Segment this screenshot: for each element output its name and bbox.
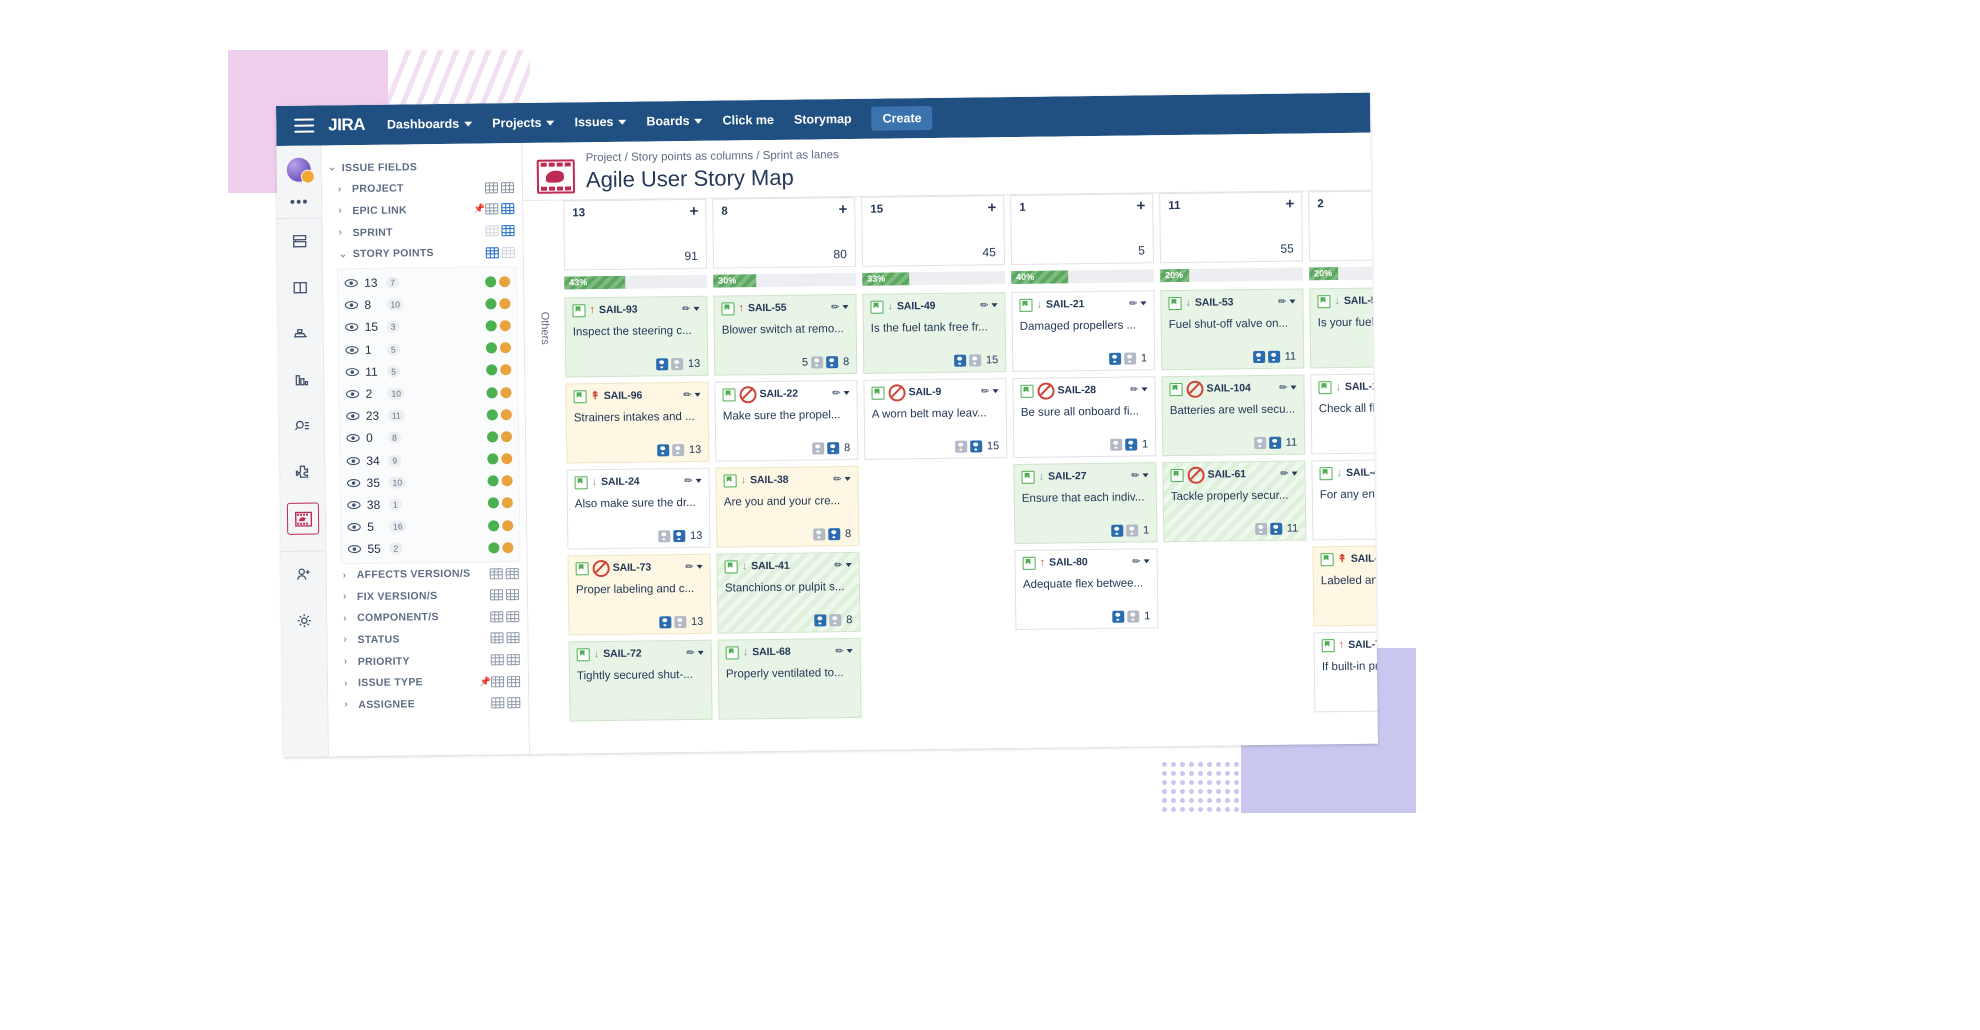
- issue-type-story-icon: [1317, 295, 1330, 308]
- issue-key[interactable]: SAIL-55: [748, 302, 787, 314]
- chevron-down-icon[interactable]: [842, 305, 848, 309]
- decor-dot-grid: [1162, 762, 1292, 814]
- chevron-down-icon[interactable]: [1144, 559, 1150, 563]
- assignee-avatar[interactable]: [1124, 353, 1136, 365]
- chevron-right-icon[interactable]: ›: [338, 206, 352, 217]
- card-header: ↑SAIL-93✏: [572, 302, 699, 318]
- card-actions: ✏: [686, 647, 704, 658]
- column-header: 1+540%: [1010, 193, 1154, 284]
- card-footer: 11: [1254, 437, 1298, 450]
- card-header: SAIL-73✏: [576, 560, 703, 576]
- grid-layout-icon[interactable]: [490, 633, 503, 644]
- status-dots: [487, 453, 512, 464]
- chevron-down-icon[interactable]: [844, 391, 850, 395]
- eye-icon[interactable]: [346, 433, 360, 443]
- edit-pencil-icon[interactable]: ✏: [1131, 470, 1140, 481]
- add-user-icon[interactable]: [289, 560, 319, 590]
- assignee-avatar[interactable]: [1253, 351, 1265, 363]
- issue-summary: Adequate flex betwee...: [1023, 576, 1150, 592]
- field-row-sprint[interactable]: ›Sprint: [322, 220, 522, 244]
- edit-pencil-icon[interactable]: ✏: [831, 302, 840, 313]
- issue-key[interactable]: SAIL-93: [599, 304, 638, 316]
- more-options-icon[interactable]: •••: [290, 200, 309, 206]
- eye-icon[interactable]: [347, 522, 361, 532]
- add-issue-button[interactable]: +: [987, 200, 996, 215]
- column-summary-box: 15+45: [861, 195, 1005, 267]
- chevron-down-icon[interactable]: [847, 649, 853, 653]
- issue-card[interactable]: ↑SAIL-70✏If built-in prope...: [1314, 631, 1378, 713]
- story-points-row[interactable]: 137: [338, 270, 516, 294]
- column-issue-count: 13: [572, 207, 585, 219]
- field-row-story-points[interactable]: ⌄Story Points: [323, 241, 523, 265]
- divider: [281, 550, 325, 552]
- card-actions: ✏: [832, 388, 850, 399]
- field-label: Fix Version/s: [357, 589, 490, 603]
- chevron-down-icon[interactable]: [697, 565, 703, 569]
- edit-pencil-icon[interactable]: ✏: [834, 560, 843, 571]
- chevron-down-icon[interactable]: [845, 477, 851, 481]
- card-story-points: 11: [1287, 523, 1299, 535]
- field-label: Assignee: [358, 697, 491, 711]
- issue-key[interactable]: SAIL-38: [750, 474, 789, 486]
- eye-icon[interactable]: [346, 411, 360, 421]
- story-points-value: 34: [366, 453, 383, 467]
- chevron-down-icon[interactable]: [1143, 473, 1149, 477]
- assignee-avatar[interactable]: [1254, 437, 1266, 449]
- chevron-right-icon[interactable]: ›: [338, 227, 352, 238]
- issue-key[interactable]: SAIL-56: [1344, 294, 1378, 306]
- card-footer: 13: [659, 616, 703, 629]
- grid-layout-icon[interactable]: [485, 182, 498, 193]
- chevron-down-icon[interactable]: [1290, 386, 1296, 390]
- assignee-avatar[interactable]: [827, 442, 839, 454]
- story-points-row[interactable]: 516: [341, 514, 519, 538]
- story-points-row[interactable]: 552: [341, 536, 519, 560]
- chevron-right-icon[interactable]: ›: [343, 570, 357, 581]
- assignee-avatar[interactable]: [826, 356, 838, 368]
- field-row-project[interactable]: ›Project: [322, 177, 522, 201]
- story-points-count-badge: 1: [389, 498, 402, 510]
- card-column: ↓SAIL-21✏Damaged propellers ...1SAIL-28✏…: [1011, 290, 1159, 722]
- chevron-down-icon[interactable]: [993, 389, 999, 393]
- column-progress-bar: 33%: [862, 271, 1005, 286]
- chevron-down-icon[interactable]: [1289, 300, 1295, 304]
- field-view-toggles: [490, 589, 519, 600]
- nav-item-boards[interactable]: Boards: [646, 114, 702, 129]
- column-progress-label: 40%: [1016, 272, 1034, 282]
- issue-card[interactable]: SAIL-104✏Batteries are well secu...11: [1161, 374, 1305, 456]
- field-label: Story Points: [353, 247, 486, 261]
- issue-key[interactable]: SAIL-73: [613, 561, 652, 573]
- issue-card[interactable]: SAIL-73✏Proper labeling and c...13: [568, 554, 712, 636]
- project-avatar-icon: [537, 159, 575, 193]
- issue-card[interactable]: SAIL-9✏A worn belt may leav...15: [863, 378, 1007, 460]
- story-points-value: 11: [365, 365, 382, 379]
- issue-key[interactable]: SAIL-28: [1057, 384, 1096, 396]
- chevron-down-icon: [464, 121, 472, 126]
- edit-pencil-icon[interactable]: ✏: [1129, 298, 1138, 309]
- grid-layout-icon[interactable]: [507, 697, 520, 708]
- columns-icon[interactable]: [285, 273, 315, 303]
- issue-key[interactable]: SAIL-24: [601, 476, 640, 488]
- field-view-toggles: [490, 633, 519, 644]
- card-footer: 11: [1253, 351, 1297, 364]
- grid-layout-icon[interactable]: [507, 654, 520, 665]
- eye-icon[interactable]: [347, 544, 361, 554]
- issue-card[interactable]: ↓SAIL-41✏Stanchions or pulpit s...8: [717, 552, 861, 634]
- grid-layout-icon[interactable]: [506, 633, 519, 644]
- grid-layout-icon[interactable]: [506, 589, 519, 600]
- puzzle-icon[interactable]: [287, 457, 317, 487]
- storymap-icon[interactable]: [287, 503, 319, 535]
- priority-dn-icon: ↓: [1036, 299, 1042, 310]
- issue-key[interactable]: SAIL-68: [752, 646, 791, 658]
- column-progress-label: 20%: [1314, 268, 1332, 278]
- edit-pencil-icon[interactable]: ✏: [980, 300, 989, 311]
- issue-card[interactable]: ↑SAIL-80✏Adequate flex betwee...1: [1014, 548, 1158, 630]
- issue-summary: Properly ventilated to...: [726, 666, 853, 682]
- gear-icon[interactable]: [289, 606, 319, 636]
- card-header: ↓SAIL-24✏: [575, 474, 702, 490]
- assignee-avatar[interactable]: [659, 616, 671, 628]
- card-actions: ✏: [980, 300, 998, 311]
- nav-item-click-me[interactable]: Click me: [722, 113, 774, 128]
- create-button[interactable]: Create: [871, 106, 932, 131]
- chevron-down-icon[interactable]: [846, 563, 852, 567]
- field-label: Sprint: [352, 225, 485, 239]
- issue-card[interactable]: ↓SAIL-53✏Fuel shut-off valve on...11: [1160, 288, 1304, 370]
- grid-layout-icon[interactable]: [501, 204, 514, 215]
- column-progress-bar: 20%: [1160, 267, 1303, 282]
- edit-pencil-icon[interactable]: ✏: [685, 561, 694, 572]
- grid-layout-icon[interactable]: [485, 204, 498, 215]
- grid-layout-icon[interactable]: [491, 698, 504, 709]
- issue-card[interactable]: ↟SAIL-96✏Strainers intakes and ...13: [565, 382, 709, 464]
- chevron-down-icon[interactable]: ⌄: [339, 249, 353, 260]
- nav-item-label: Issues: [574, 115, 613, 129]
- issue-card[interactable]: ↓SAIL-17✏Check all fluid le...: [1310, 373, 1378, 455]
- assignee-avatar[interactable]: [1270, 523, 1282, 535]
- field-row-issue-fields[interactable]: ⌄Issue Fields: [322, 155, 522, 179]
- grid-layout-icon[interactable]: [501, 225, 514, 236]
- assignee-avatar[interactable]: [1111, 525, 1123, 537]
- grid-layout-icon[interactable]: [491, 676, 504, 687]
- story-points-row[interactable]: 381: [341, 492, 519, 516]
- jira-logo[interactable]: JIRA: [328, 115, 365, 135]
- assignee-avatar[interactable]: [1255, 523, 1267, 535]
- grid-layout-icon[interactable]: [506, 611, 519, 622]
- card-column: ↓SAIL-56✏Is your fuel syst...↓SAIL-17✏Ch…: [1309, 287, 1378, 719]
- assignee-avatar[interactable]: [970, 440, 982, 452]
- chevron-down-icon[interactable]: [1292, 472, 1298, 476]
- assignee-avatar[interactable]: [954, 355, 966, 367]
- assignee-avatar[interactable]: [1112, 611, 1124, 623]
- issue-type-story-icon: [725, 560, 738, 573]
- status-dots: [488, 475, 513, 486]
- chevron-down-icon[interactable]: [991, 303, 997, 307]
- story-points-row[interactable]: 810: [338, 292, 516, 316]
- issue-key[interactable]: SAIL-9: [908, 386, 941, 398]
- chevron-down-icon[interactable]: [698, 651, 704, 655]
- add-issue-button[interactable]: +: [689, 204, 698, 219]
- chevron-down-icon[interactable]: [1140, 301, 1146, 305]
- edit-pencil-icon[interactable]: ✏: [835, 646, 844, 657]
- assignee-avatar[interactable]: [1126, 524, 1138, 536]
- issue-key[interactable]: SAIL-104: [1206, 382, 1250, 395]
- issue-key[interactable]: SAIL-70: [1348, 638, 1378, 650]
- grid-layout-icon[interactable]: [501, 182, 514, 193]
- eye-icon[interactable]: [344, 300, 358, 310]
- board-header: Project / Story points as columns / Spri…: [522, 133, 1371, 200]
- hamburger-icon[interactable]: [294, 119, 314, 133]
- issue-summary: Be sure all onboard fi...: [1021, 404, 1148, 420]
- issue-type-story-icon: [726, 646, 739, 659]
- field-row-issue-type[interactable]: ›Issue Type📌: [328, 670, 528, 694]
- column-progress-label: 20%: [1165, 270, 1183, 280]
- assignee-avatar[interactable]: [657, 444, 669, 456]
- field-label: Epic Link: [352, 204, 470, 217]
- card-footer: 11: [1255, 523, 1299, 536]
- eye-icon[interactable]: [345, 322, 359, 332]
- column-progress-bar: 43%: [564, 275, 707, 290]
- card-actions: ✏: [834, 560, 852, 571]
- grid-layout-icon[interactable]: [490, 590, 503, 601]
- edit-pencil-icon[interactable]: ✏: [1130, 384, 1139, 395]
- assignee-avatar[interactable]: [955, 441, 967, 453]
- assignee-avatar[interactable]: [1268, 351, 1280, 363]
- field-label: Project: [352, 182, 485, 196]
- chevron-right-icon[interactable]: ›: [338, 184, 352, 195]
- edit-pencil-icon[interactable]: ✏: [1280, 468, 1289, 479]
- add-issue-button[interactable]: +: [1285, 197, 1294, 212]
- field-view-toggles: [490, 611, 519, 622]
- issue-key[interactable]: SAIL-41: [751, 560, 790, 572]
- assignee-avatar[interactable]: [674, 616, 686, 628]
- issue-key[interactable]: SAIL-45: [1346, 466, 1378, 478]
- card-actions: ✏: [1131, 470, 1149, 481]
- chevron-down-icon[interactable]: [1142, 387, 1148, 391]
- assignee-avatar[interactable]: [672, 444, 684, 456]
- issue-summary: Strainers intakes and ...: [574, 410, 701, 426]
- issue-key[interactable]: SAIL-80: [1049, 556, 1088, 568]
- issue-key[interactable]: SAIL-53: [1195, 296, 1234, 308]
- issue-type-story-icon: [1322, 639, 1335, 652]
- issue-card[interactable]: ↓SAIL-49✏Is the fuel tank free fr...15: [862, 292, 1006, 374]
- grid-layout-icon[interactable]: [485, 225, 498, 236]
- divider: [277, 217, 321, 219]
- priority-up-icon: ↑: [738, 303, 744, 314]
- issue-key[interactable]: SAIL-61: [1208, 468, 1247, 480]
- column-points-sum: 5: [1138, 243, 1145, 257]
- assignee-avatar[interactable]: [671, 358, 683, 370]
- pin-icon[interactable]: 📌: [474, 204, 486, 215]
- assignee-avatar[interactable]: [811, 356, 823, 368]
- issue-key[interactable]: SAIL-49: [897, 300, 936, 312]
- issue-card[interactable]: ↓SAIL-38✏Are you and your cre...8: [715, 466, 859, 548]
- status-dot: [502, 475, 513, 486]
- story-points-row[interactable]: 15: [339, 337, 517, 361]
- nav-item-projects[interactable]: Projects: [492, 116, 555, 131]
- chevron-down-icon[interactable]: [696, 479, 702, 483]
- issue-type-story-icon: [1020, 384, 1033, 397]
- issue-summary: Is the fuel tank free fr...: [871, 320, 998, 336]
- eye-icon[interactable]: [344, 278, 358, 288]
- card-header: ↑SAIL-80✏: [1023, 554, 1150, 570]
- grid-layout-icon[interactable]: [490, 611, 503, 622]
- issue-card[interactable]: ↓SAIL-21✏Damaged propellers ...1: [1011, 290, 1155, 372]
- grid-layout-icon[interactable]: [486, 247, 499, 258]
- story-points-value: 15: [365, 320, 382, 334]
- eye-icon[interactable]: [346, 456, 360, 466]
- assignee-avatar[interactable]: [658, 530, 670, 542]
- bar-chart-icon[interactable]: [286, 365, 316, 395]
- edit-pencil-icon[interactable]: ✏: [682, 303, 691, 314]
- field-row-epic-link[interactable]: ›Epic Link📌: [322, 198, 522, 222]
- story-points-row[interactable]: 349: [340, 448, 518, 472]
- assignee-avatar[interactable]: [814, 614, 826, 626]
- search-list-icon[interactable]: [287, 411, 317, 441]
- card-header: ↓SAIL-53✏: [1168, 295, 1295, 311]
- grid-layout-icon[interactable]: [506, 568, 519, 579]
- grid-layout-icon[interactable]: [491, 654, 504, 665]
- assignee-avatar[interactable]: [1127, 610, 1139, 622]
- issue-card[interactable]: ↓SAIL-68✏Properly ventilated to...: [718, 638, 862, 720]
- issue-type-story-icon: [1022, 470, 1035, 483]
- story-points-count-badge: 9: [388, 454, 401, 466]
- story-map-board: Project / Story points as columns / Spri…: [522, 133, 1377, 754]
- story-points-row[interactable]: 115: [339, 359, 517, 383]
- assignee-avatar[interactable]: [812, 442, 824, 454]
- assignee-avatar[interactable]: [1109, 353, 1121, 365]
- issue-card[interactable]: SAIL-22✏Make sure the propel...8: [714, 380, 858, 462]
- chevron-down-icon[interactable]: [693, 307, 699, 311]
- field-row-assignee[interactable]: ›Assignee: [328, 692, 528, 716]
- chevron-right-icon[interactable]: ›: [344, 699, 358, 710]
- issue-key[interactable]: SAIL-27: [1048, 470, 1087, 482]
- chevron-right-icon[interactable]: ›: [343, 613, 357, 624]
- add-issue-button[interactable]: +: [838, 202, 847, 217]
- card-story-points: 1: [1144, 610, 1150, 622]
- assignee-avatar[interactable]: [656, 358, 668, 370]
- card-footer: 1: [1109, 352, 1147, 364]
- issue-key[interactable]: SAIL-72: [603, 648, 642, 660]
- story-points-value: 38: [367, 498, 384, 512]
- assignee-avatar[interactable]: [829, 614, 841, 626]
- issue-key[interactable]: SAIL-67: [1351, 552, 1378, 564]
- issue-card[interactable]: SAIL-28✏Be sure all onboard fi...1: [1012, 376, 1156, 458]
- edit-pencil-icon[interactable]: ✏: [1278, 296, 1287, 307]
- field-row-component-s[interactable]: ›Component/s: [327, 606, 527, 630]
- grid-layout-icon[interactable]: [507, 676, 520, 687]
- story-points-count-badge: 16: [389, 521, 407, 533]
- chevron-right-icon[interactable]: ›: [344, 656, 358, 667]
- edit-pencil-icon[interactable]: ✏: [833, 474, 842, 485]
- chevron-down-icon[interactable]: ⌄: [328, 162, 342, 173]
- field-row-affects-version-s[interactable]: ›Affects Version/s: [327, 562, 527, 586]
- pin-icon[interactable]: 📌: [479, 676, 491, 687]
- issue-card[interactable]: ↓SAIL-72✏Tightly secured shut-...: [569, 640, 713, 722]
- issue-card[interactable]: ↓SAIL-45✏For any enclose...: [1311, 459, 1377, 541]
- edit-pencil-icon[interactable]: ✏: [981, 386, 990, 397]
- add-issue-button[interactable]: +: [1136, 198, 1145, 213]
- card-story-points: 8: [844, 442, 850, 454]
- issue-key[interactable]: SAIL-96: [604, 390, 643, 402]
- story-points-row[interactable]: 3510: [340, 470, 518, 494]
- eye-icon[interactable]: [347, 478, 361, 488]
- grid-layout-icon[interactable]: [502, 247, 515, 258]
- chevron-down-icon[interactable]: [695, 393, 701, 397]
- assignee-avatar[interactable]: [1110, 439, 1122, 451]
- issue-key[interactable]: SAIL-21: [1046, 298, 1085, 310]
- field-label: Priority: [358, 654, 491, 668]
- edit-pencil-icon[interactable]: ✏: [683, 389, 692, 400]
- grid-layout-icon[interactable]: [490, 568, 503, 579]
- issue-key[interactable]: SAIL-22: [759, 388, 798, 400]
- card-story-points: 15: [987, 440, 999, 452]
- issue-type-story-icon: [1321, 553, 1334, 566]
- layers-icon[interactable]: [284, 227, 314, 257]
- issue-card[interactable]: ↓SAIL-24✏Also make sure the dr...13: [566, 468, 710, 550]
- eye-icon[interactable]: [345, 345, 359, 355]
- issue-type-story-icon: [1019, 298, 1032, 311]
- chevron-right-icon[interactable]: ›: [343, 635, 357, 646]
- nav-item-label: Projects: [492, 116, 542, 131]
- edit-pencil-icon[interactable]: ✏: [684, 475, 693, 486]
- issue-card[interactable]: ↟SAIL-67✏Labeled and des...: [1312, 545, 1377, 627]
- assignee-avatar[interactable]: [1125, 439, 1137, 451]
- priority-dn-icon: ↓: [1334, 296, 1340, 307]
- eye-icon[interactable]: [347, 500, 361, 510]
- eye-icon[interactable]: [345, 367, 359, 377]
- story-points-row[interactable]: 08: [340, 425, 518, 449]
- assignee-avatar[interactable]: [1269, 437, 1281, 449]
- assignee-avatar[interactable]: [828, 528, 840, 540]
- issue-card[interactable]: ↑SAIL-55✏Blower switch at remo...58: [713, 294, 857, 376]
- edit-pencil-icon[interactable]: ✏: [832, 388, 841, 399]
- story-points-row[interactable]: 153: [339, 314, 517, 338]
- chevron-right-icon[interactable]: ›: [344, 678, 358, 689]
- field-row-priority[interactable]: ›Priority: [328, 649, 528, 673]
- assignee-avatar[interactable]: [813, 528, 825, 540]
- issue-card[interactable]: SAIL-61✏Tackle properly secur...11: [1162, 460, 1306, 542]
- chevron-right-icon[interactable]: ›: [343, 591, 357, 602]
- eye-icon[interactable]: [345, 389, 359, 399]
- nav-item-label: Dashboards: [387, 117, 459, 132]
- assignee-avatar[interactable]: [969, 354, 981, 366]
- story-points-row[interactable]: 210: [339, 381, 517, 405]
- nav-item-storymap[interactable]: Storymap: [794, 112, 852, 127]
- edit-pencil-icon[interactable]: ✏: [1132, 556, 1141, 567]
- story-points-value: 2: [365, 387, 382, 401]
- issue-card[interactable]: ↑SAIL-93✏Inspect the steering c...13: [564, 296, 708, 378]
- story-points-row[interactable]: 2311: [340, 403, 518, 427]
- edit-pencil-icon[interactable]: ✏: [686, 647, 695, 658]
- edit-pencil-icon[interactable]: ✏: [1279, 382, 1288, 393]
- issue-summary: Make sure the propel...: [723, 408, 850, 424]
- issue-card[interactable]: ↓SAIL-56✏Is your fuel syst...: [1309, 287, 1378, 369]
- field-row-fix-version-s[interactable]: ›Fix Version/s: [327, 584, 527, 608]
- nav-item-issues[interactable]: Issues: [574, 115, 626, 130]
- assignee-avatar[interactable]: [673, 530, 685, 542]
- board-stack-icon[interactable]: [286, 319, 316, 349]
- issue-key[interactable]: SAIL-17: [1345, 380, 1378, 392]
- nav-item-dashboards[interactable]: Dashboards: [387, 117, 472, 132]
- user-avatar[interactable]: [287, 158, 311, 182]
- nav-items: DashboardsProjectsIssuesBoardsClick meSt…: [387, 112, 872, 132]
- issue-card[interactable]: ↓SAIL-27✏Ensure that each indiv...1: [1013, 462, 1157, 544]
- field-row-status[interactable]: ›Status: [327, 627, 527, 651]
- issue-type-story-icon: [576, 562, 589, 575]
